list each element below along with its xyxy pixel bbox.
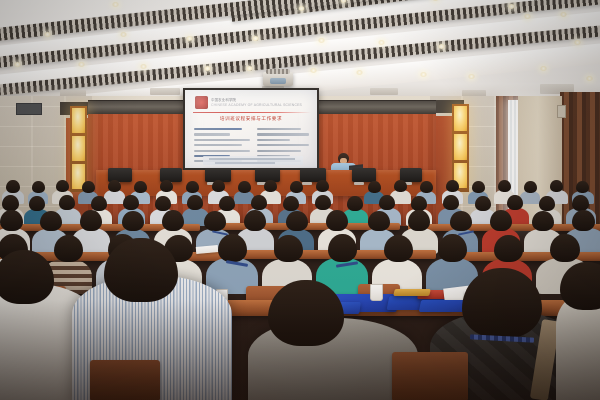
foreground-head — [104, 238, 178, 302]
wall-panel-left — [16, 103, 42, 115]
ceiling-downlight — [78, 62, 85, 67]
ceiling-downlight — [14, 62, 21, 67]
ceiling-downlight — [468, 74, 475, 79]
ceiling-downlight — [356, 70, 363, 75]
ceiling-downlight — [120, 32, 127, 37]
projector-lens-icon — [270, 78, 286, 84]
ceiling-downlight — [586, 76, 593, 81]
ceiling-downlight — [112, 2, 119, 7]
foreground-shadow — [0, 300, 600, 400]
ceiling-downlight — [524, 14, 531, 19]
ceiling-downlight — [44, 32, 51, 37]
ceiling-downlight — [438, 44, 445, 49]
yellow-folder — [393, 289, 431, 296]
projection-screen: 中国农业科学院 CHINESE ACADEMY OF AGRICULTURAL … — [183, 88, 319, 170]
ceiling-downlight — [246, 66, 253, 71]
slide-surface: 中国农业科学院 CHINESE ACADEMY OF AGRICULTURAL … — [185, 90, 317, 168]
ceiling-downlight — [420, 72, 427, 77]
wall-speaker-icon — [557, 105, 566, 118]
ceiling-downlight — [186, 36, 193, 41]
ceiling-downlight — [540, 66, 547, 71]
ceiling-downlight — [574, 40, 581, 45]
ceiling-downlight — [252, 36, 259, 41]
ceiling-downlight — [140, 64, 147, 69]
conference-hall-photo: 中国农业科学院 CHINESE ACADEMY OF AGRICULTURAL … — [0, 0, 600, 400]
paper-cup — [370, 284, 383, 301]
ceiling-downlight — [378, 40, 385, 45]
ceiling-downlight — [318, 38, 325, 43]
ceiling-downlight — [508, 4, 515, 9]
ceiling-downlight — [310, 68, 317, 73]
ceiling-downlight — [560, 12, 567, 17]
ceiling-downlight — [204, 66, 211, 71]
ceiling-downlight — [298, 6, 305, 11]
screen-glare — [185, 90, 317, 168]
projector-vent — [266, 69, 290, 74]
